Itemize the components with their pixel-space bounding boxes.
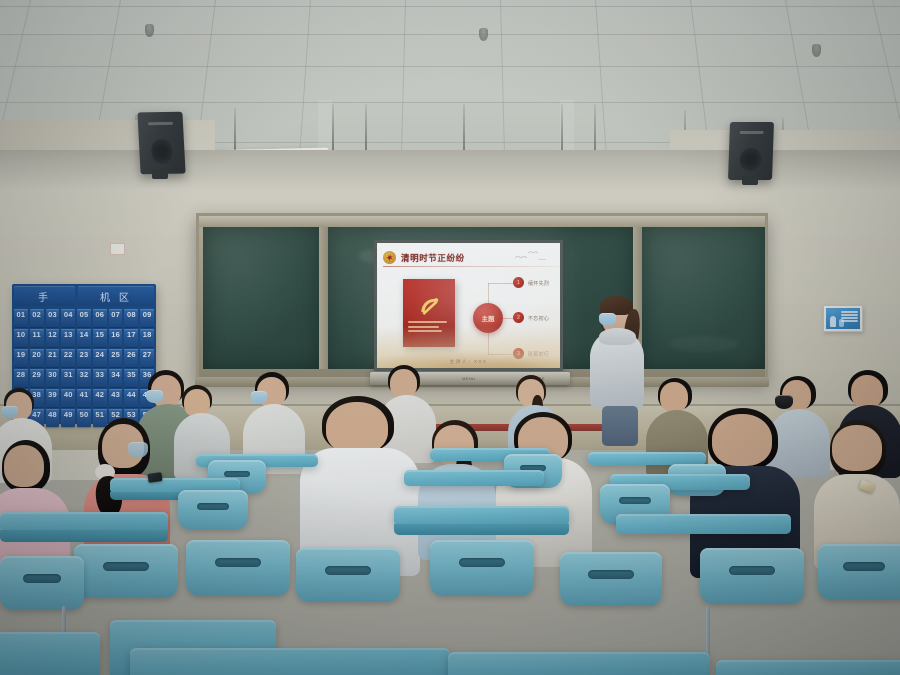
blackboard-panel-left — [203, 227, 319, 369]
slide-footer: 主讲人：XXX — [377, 358, 560, 365]
phone-pocket[interactable]: 24 — [93, 349, 107, 367]
phone-pocket[interactable]: 15 — [93, 329, 107, 347]
slide-node-2: 2 — [513, 312, 524, 323]
slide-node-2-label: 不忘初心 — [528, 315, 549, 322]
phone-pocket[interactable]: 01 — [14, 309, 28, 327]
phone-pocket[interactable]: 08 — [124, 309, 138, 327]
phone-pocket[interactable]: 06 — [93, 309, 107, 327]
phone-pocket[interactable]: 23 — [77, 349, 91, 367]
classroom-photo: 清明时节正纷纷 — [0, 0, 900, 675]
presenter — [586, 296, 648, 446]
chair-handle-slot — [459, 558, 505, 567]
phone-pocket[interactable]: 42 — [93, 389, 107, 407]
chair — [186, 540, 290, 596]
slide-node-1: 1 — [513, 277, 524, 288]
presenter-jeans — [602, 406, 638, 446]
phone-pocket[interactable]: 12 — [46, 329, 60, 347]
phone-pocket[interactable]: 40 — [61, 389, 75, 407]
chair — [818, 544, 900, 600]
desk-front-panel — [0, 530, 168, 542]
chair — [700, 548, 804, 604]
phone-pocket[interactable]: 30 — [46, 369, 60, 387]
chair — [560, 552, 662, 606]
speaker-mount-left — [152, 170, 168, 179]
wall-speaker-right — [728, 122, 774, 180]
phone-pocket[interactable]: 11 — [30, 329, 44, 347]
phone-pocket[interactable]: 34 — [109, 369, 123, 387]
slide-node-2-index: 2 — [517, 315, 520, 321]
slide-title-rule — [383, 266, 559, 267]
desk-foreground — [130, 648, 450, 675]
chair-handle-slot — [619, 497, 651, 504]
phone-pocket-header-right: 机 区 — [78, 286, 154, 306]
chair-handle-slot — [215, 558, 261, 567]
phone-pocket[interactable]: 09 — [140, 309, 154, 327]
phone-pocket-header-left: 手 — [14, 286, 75, 306]
phone-pocket[interactable]: 41 — [77, 389, 91, 407]
hammer-sickle-icon — [419, 296, 440, 315]
phone-pocket-row: 19 20 21 22 23 24 25 26 27 — [14, 349, 154, 367]
phone-pocket[interactable]: 43 — [109, 389, 123, 407]
phone-pocket[interactable]: 17 — [124, 329, 138, 347]
blackboard-top-rail — [199, 216, 765, 227]
presenter-face-mask — [599, 313, 616, 326]
phone-pocket[interactable]: 28 — [14, 369, 28, 387]
safety-notice-poster-artwork — [826, 308, 860, 329]
phone-pocket[interactable]: 29 — [30, 369, 44, 387]
phone-pocket[interactable]: 03 — [46, 309, 60, 327]
phone-pocket[interactable]: 31 — [61, 369, 75, 387]
phone-pocket[interactable]: 32 — [77, 369, 91, 387]
desk — [404, 470, 544, 486]
phone-pocket-row: 10 11 12 13 14 15 16 17 18 — [14, 329, 154, 347]
phone-pocket[interactable]: 05 — [77, 309, 91, 327]
party-emblem-icon — [383, 251, 396, 264]
desk-foreground — [716, 660, 900, 675]
chair-handle-slot — [588, 570, 634, 579]
phone-pocket[interactable]: 26 — [124, 349, 138, 367]
projection-screen: 清明时节正纷纷 — [374, 240, 563, 371]
desk — [394, 506, 569, 526]
slide-hub-label: 主题 — [482, 313, 495, 323]
birds-decoration-icon — [512, 249, 552, 265]
desk-front-panel — [394, 524, 569, 535]
chair-handle-slot — [23, 574, 61, 583]
desk-foreground — [448, 652, 710, 675]
smartboard-menu-button[interactable]: MENU — [462, 376, 475, 381]
chair-handle-slot — [843, 562, 885, 571]
phone-pocket[interactable]: 18 — [140, 329, 154, 347]
phone-pocket[interactable]: 14 — [77, 329, 91, 347]
phone-pocket[interactable]: 27 — [140, 349, 154, 367]
presentation-slide: 清明时节正纷纷 — [377, 243, 560, 368]
sprinkler-head — [479, 28, 488, 41]
student-mid-4 — [420, 420, 494, 560]
chair — [0, 556, 84, 610]
sprinkler-head — [145, 24, 154, 37]
chair-handle-slot — [197, 503, 229, 510]
phone-pocket[interactable]: 35 — [124, 369, 138, 387]
phone-pocket[interactable]: 02 — [30, 309, 44, 327]
phone-pocket[interactable]: 19 — [14, 349, 28, 367]
black-face-mask — [775, 395, 793, 409]
wall-speaker-left — [137, 112, 185, 175]
chair — [296, 548, 400, 602]
phone-pocket[interactable]: 04 — [61, 309, 75, 327]
phone-pocket[interactable]: 13 — [61, 329, 75, 347]
chair-handle-slot — [224, 471, 250, 477]
desk — [616, 514, 791, 534]
phone-pocket[interactable]: 25 — [109, 349, 123, 367]
chair — [74, 544, 178, 598]
phone-pocket-row: 28 29 30 31 32 33 34 35 36 — [14, 369, 154, 387]
chair — [430, 540, 534, 596]
slide-node-1-index: 1 — [517, 280, 520, 286]
phone-pocket[interactable]: 21 — [46, 349, 60, 367]
phone-pocket-chart-header: 手 机 区 — [14, 286, 154, 306]
desk — [0, 512, 168, 532]
chair-handle-slot — [103, 562, 149, 571]
safety-notice-poster — [823, 305, 863, 332]
phone-pocket[interactable]: 20 — [30, 349, 44, 367]
chair-handle-slot — [325, 566, 371, 575]
chair — [178, 490, 248, 530]
phone-pocket[interactable]: 10 — [14, 329, 28, 347]
student-mid-2 — [0, 440, 70, 570]
phone-pocket-row: 01 02 03 04 05 06 07 08 09 — [14, 309, 154, 327]
slide-node-1-label: 缅怀先烈 — [528, 280, 549, 287]
phone-pocket[interactable]: 49 — [61, 409, 75, 427]
slide-title: 清明时节正纷纷 — [401, 252, 465, 264]
phone-pocket[interactable]: 22 — [61, 349, 75, 367]
sprinkler-head — [812, 44, 821, 57]
phone-pocket[interactable]: 16 — [109, 329, 123, 347]
phone-on-desk[interactable] — [147, 472, 162, 483]
speaker-mount-right — [742, 176, 758, 185]
phone-pocket[interactable]: 07 — [109, 309, 123, 327]
phone-pocket[interactable]: 33 — [93, 369, 107, 387]
phone-pocket[interactable]: 44 — [124, 389, 138, 407]
desk-foreground — [0, 632, 100, 675]
small-wall-notice — [110, 243, 125, 255]
presenter-hood — [599, 328, 636, 345]
blackboard-divider — [319, 227, 328, 369]
chair-handle-slot — [729, 566, 775, 575]
